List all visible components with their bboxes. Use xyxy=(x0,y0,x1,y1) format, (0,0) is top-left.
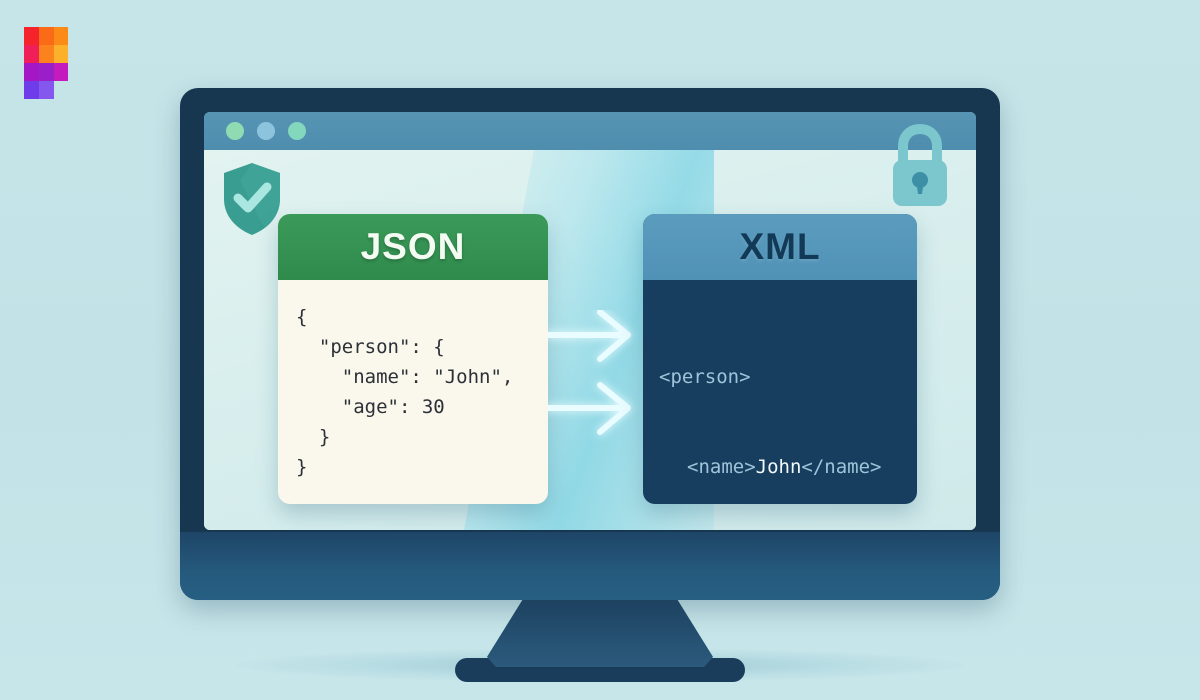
shield-check-icon xyxy=(220,161,284,237)
xml-tag: </name> xyxy=(801,456,881,478)
padlock-icon xyxy=(885,120,955,212)
window-dot-green-icon[interactable] xyxy=(226,122,244,140)
xml-value: John xyxy=(756,456,802,478)
xml-line: <person> xyxy=(659,362,917,392)
monitor-screen: JSON { "person": { "name": "John", "age"… xyxy=(204,112,976,530)
xml-panel: XML <person> <name>John</name> <age>30</… xyxy=(643,214,917,504)
illustration-canvas: JSON { "person": { "name": "John", "age"… xyxy=(0,0,1200,700)
json-code-block: { "person": { "name": "John", "age": 30 … xyxy=(278,280,548,482)
monitor-chin xyxy=(180,532,1000,600)
xml-line: <name>John</name> xyxy=(659,452,917,482)
json-panel-title: JSON xyxy=(278,214,548,280)
xml-tag: <name> xyxy=(687,456,756,478)
logo-block xyxy=(24,45,39,63)
json-panel: JSON { "person": { "name": "John", "age"… xyxy=(278,214,548,504)
logo-block xyxy=(24,63,39,81)
xml-tag: <person> xyxy=(659,366,751,388)
xml-code-block: <person> <name>John</name> <age>30</age>… xyxy=(643,280,917,504)
logo-block xyxy=(39,27,54,45)
logo-block xyxy=(39,45,54,63)
pixel-blocks-logo xyxy=(24,27,68,81)
monitor-stand xyxy=(487,595,713,667)
logo-block xyxy=(39,63,54,81)
browser-titlebar xyxy=(204,112,976,150)
logo-block xyxy=(24,81,39,99)
window-dot-teal-icon[interactable] xyxy=(288,122,306,140)
xml-panel-title: XML xyxy=(643,214,917,280)
logo-block xyxy=(54,27,68,45)
logo-block xyxy=(54,45,68,63)
logo-block xyxy=(54,63,68,81)
window-dot-blue-icon[interactable] xyxy=(257,122,275,140)
browser-content: JSON { "person": { "name": "John", "age"… xyxy=(204,150,976,530)
logo-block xyxy=(39,81,54,99)
logo-block xyxy=(24,27,39,45)
